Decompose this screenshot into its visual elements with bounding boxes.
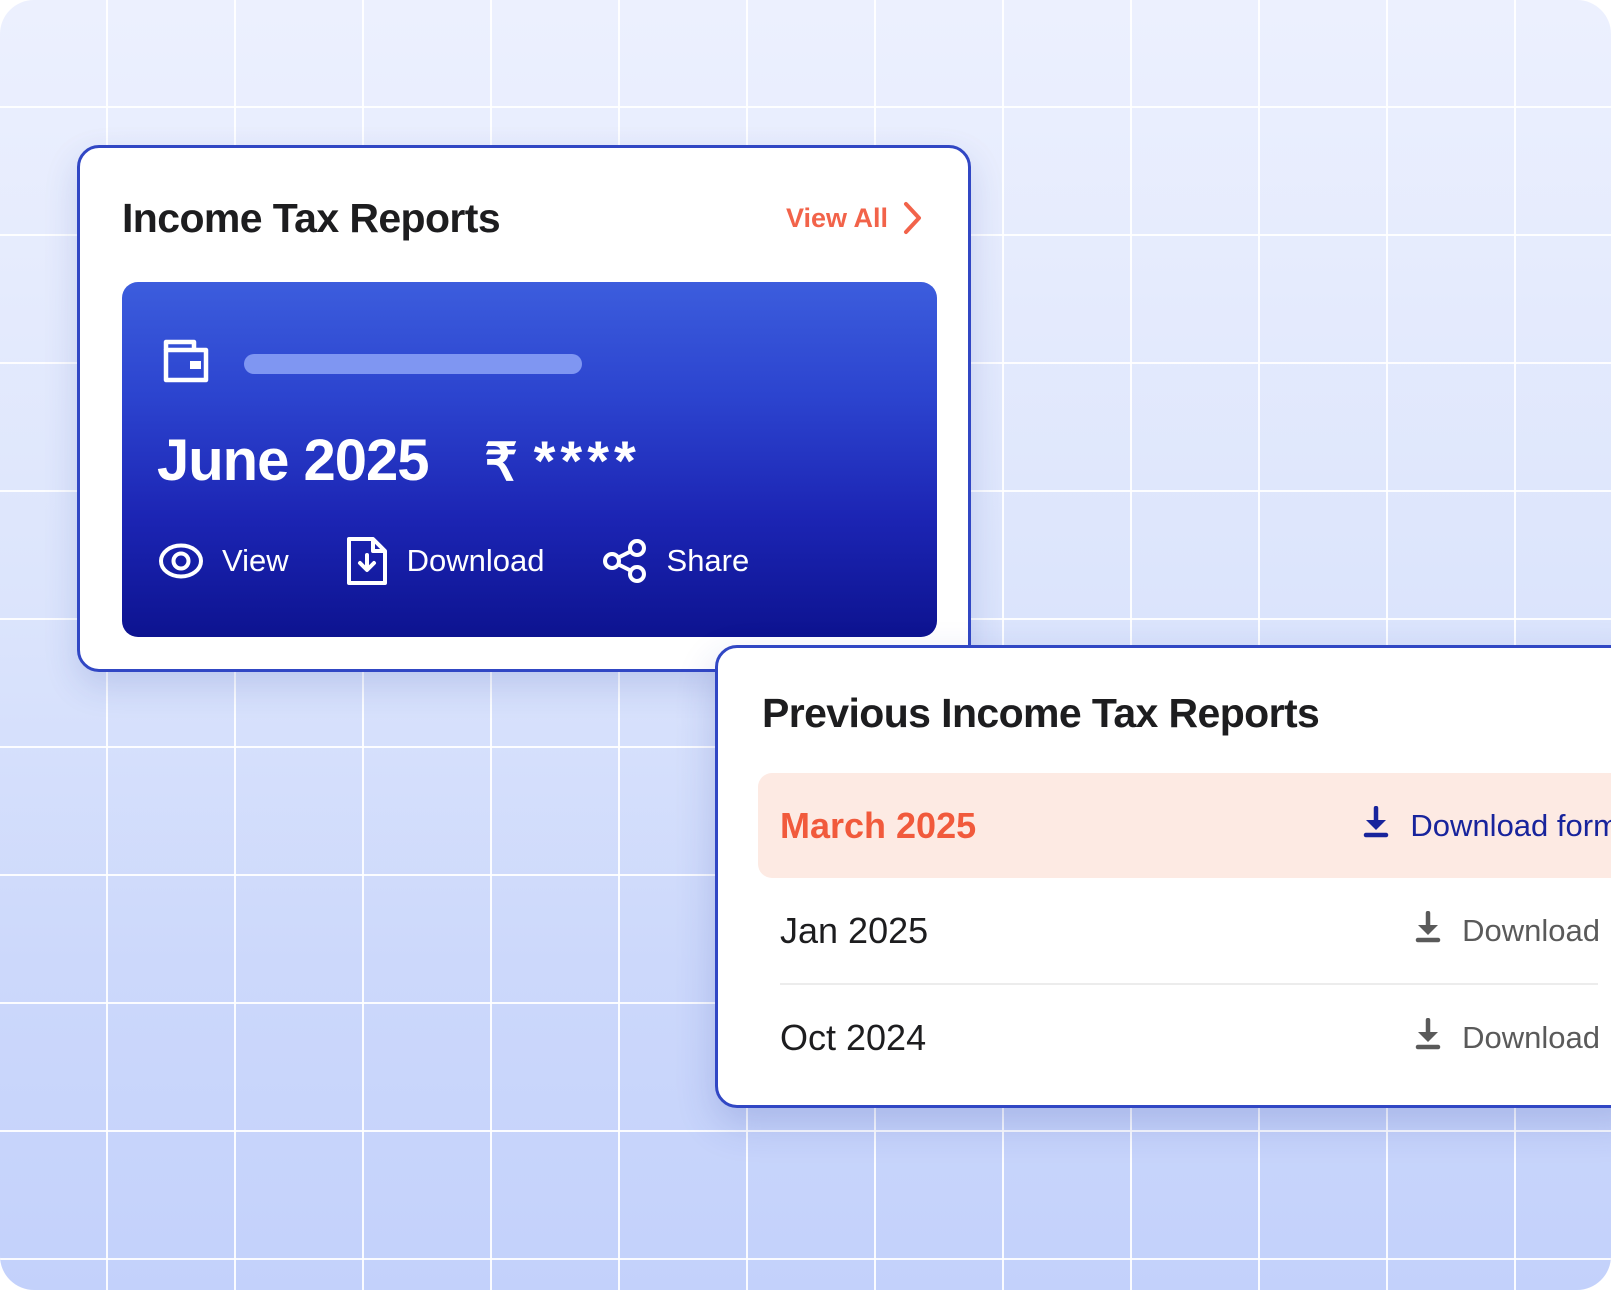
view-all-link[interactable]: View All [786,201,924,235]
statement-amount: ₹ **** [485,433,641,493]
masked-amount: **** [534,439,641,484]
download-icon [1414,911,1442,951]
report-period: Oct 2024 [780,1017,926,1059]
download-icon [1362,806,1390,846]
table-row[interactable]: March 2025 Download form 16 [758,773,1611,878]
card-header: Income Tax Reports View All [122,188,924,248]
table-row[interactable]: Jan 2025 Download [718,878,1611,983]
report-period: Jan 2025 [780,910,928,952]
table-row[interactable]: Oct 2024 Download [718,985,1611,1090]
amount-placeholder-bar [244,354,582,374]
report-period: March 2025 [780,805,976,847]
wallet-icon [160,336,212,391]
eye-icon [158,538,204,584]
download-link-label: Download [1462,1020,1600,1056]
previous-reports-title: Previous Income Tax Reports [762,690,1319,737]
previous-reports-list: March 2025 Download form 16 Jan 2025 [718,773,1611,1090]
download-link-label: Download [1462,913,1600,949]
download-icon [1414,1018,1442,1058]
previous-income-tax-reports-card: Previous Income Tax Reports March 2025 D… [715,645,1611,1108]
app-screen: Income Tax Reports View All [0,0,1611,1290]
statement-actions: View Download [158,536,749,586]
download-form-16-label: Download form 16 [1410,808,1611,844]
currency-symbol: ₹ [485,433,518,493]
view-button-label: View [222,543,289,579]
share-button[interactable]: Share [601,537,750,585]
share-nodes-icon [601,537,649,585]
page-title: Income Tax Reports [122,195,500,242]
statement-panel-header [160,336,582,391]
download-link[interactable]: Download [1414,911,1611,951]
income-tax-reports-card: Income Tax Reports View All [77,145,971,672]
download-link[interactable]: Download [1414,1018,1611,1058]
current-statement-panel: June 2025 ₹ **** View [122,282,937,637]
view-all-label: View All [786,203,888,234]
file-download-icon [345,536,389,586]
download-button-label: Download [407,543,545,579]
share-button-label: Share [667,543,750,579]
view-button[interactable]: View [158,538,289,584]
chevron-right-icon [902,201,924,235]
statement-month: June 2025 [157,427,429,494]
statement-summary: June 2025 ₹ **** [157,427,641,494]
download-button[interactable]: Download [345,536,545,586]
download-form-16-link[interactable]: Download form 16 [1362,806,1611,846]
